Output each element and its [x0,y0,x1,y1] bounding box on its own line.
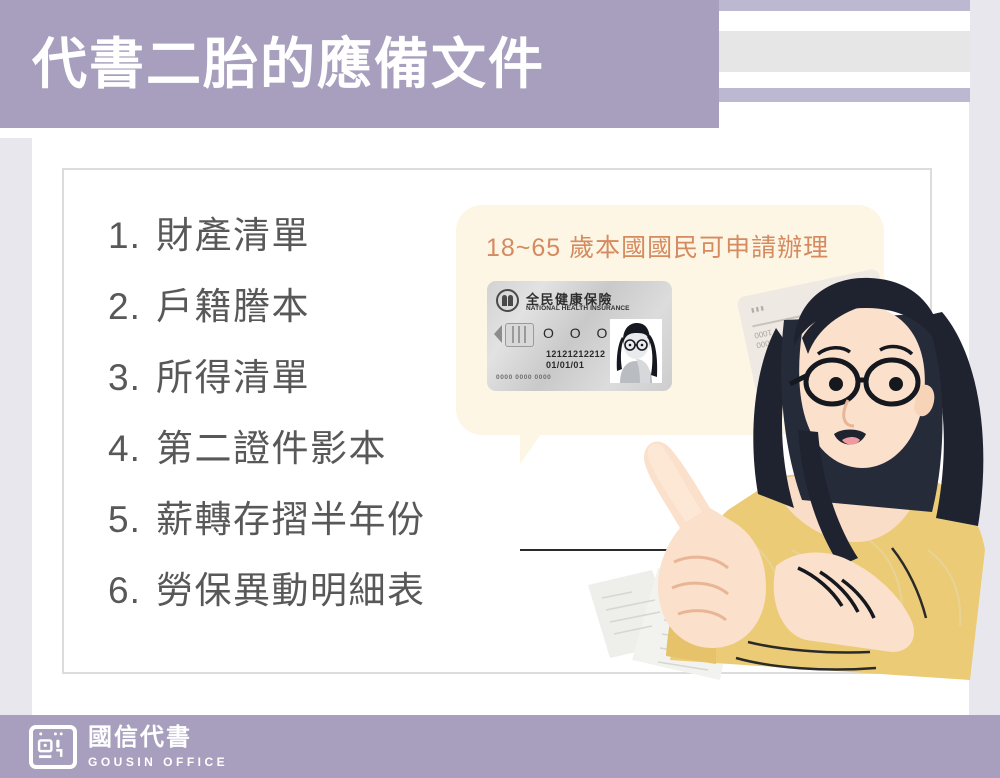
brand-name-english: GOUSIN OFFICE [88,755,228,769]
brand-logo-icon [29,725,77,769]
woman-pointing-illustration [540,250,1000,680]
list-item-number: 2. [108,271,156,342]
header-banner: 代書二胎的應備文件 [0,0,719,128]
list-item-label: 勞保異動明細表 [156,555,426,626]
list-item-label: 財產清單 [156,200,310,271]
eye-left [829,377,843,391]
footer-bar: 國信代書 GOUSIN OFFICE [0,715,1000,778]
page-title: 代書二胎的應備文件 [32,37,545,92]
decorative-stripe-4 [715,72,970,88]
nhi-arrow-icon [494,325,502,343]
list-item-label: 戶籍謄本 [156,271,310,342]
infographic-canvas: 代書二胎的應備文件 1. 財產清單 2. 戶籍謄本 3. 所得清單 4. 第二證… [0,0,1000,778]
left-side-strip [0,138,32,715]
decorative-stripe-5 [715,88,970,102]
list-item-label: 所得清單 [156,342,310,413]
eye-right [889,377,903,391]
nhi-chip-icon [505,323,534,347]
decorative-stripe-2 [715,11,970,31]
list-item-number: 5. [108,484,156,555]
list-item: 5. 薪轉存摺半年份 [108,484,528,555]
decorative-stripe-3 [715,31,970,72]
list-item-number: 4. [108,413,156,484]
list-item-number: 6. [108,555,156,626]
nhi-emblem-icon [496,289,519,312]
decorative-stripe-1 [715,0,970,11]
list-item-number: 3. [108,342,156,413]
list-item: 6. 勞保異動明細表 [108,555,528,626]
list-item-number: 1. [108,200,156,271]
list-item-label: 薪轉存摺半年份 [156,484,426,555]
list-item-label: 第二證件影本 [156,413,387,484]
brand-name-chinese: 國信代書 [88,725,192,751]
